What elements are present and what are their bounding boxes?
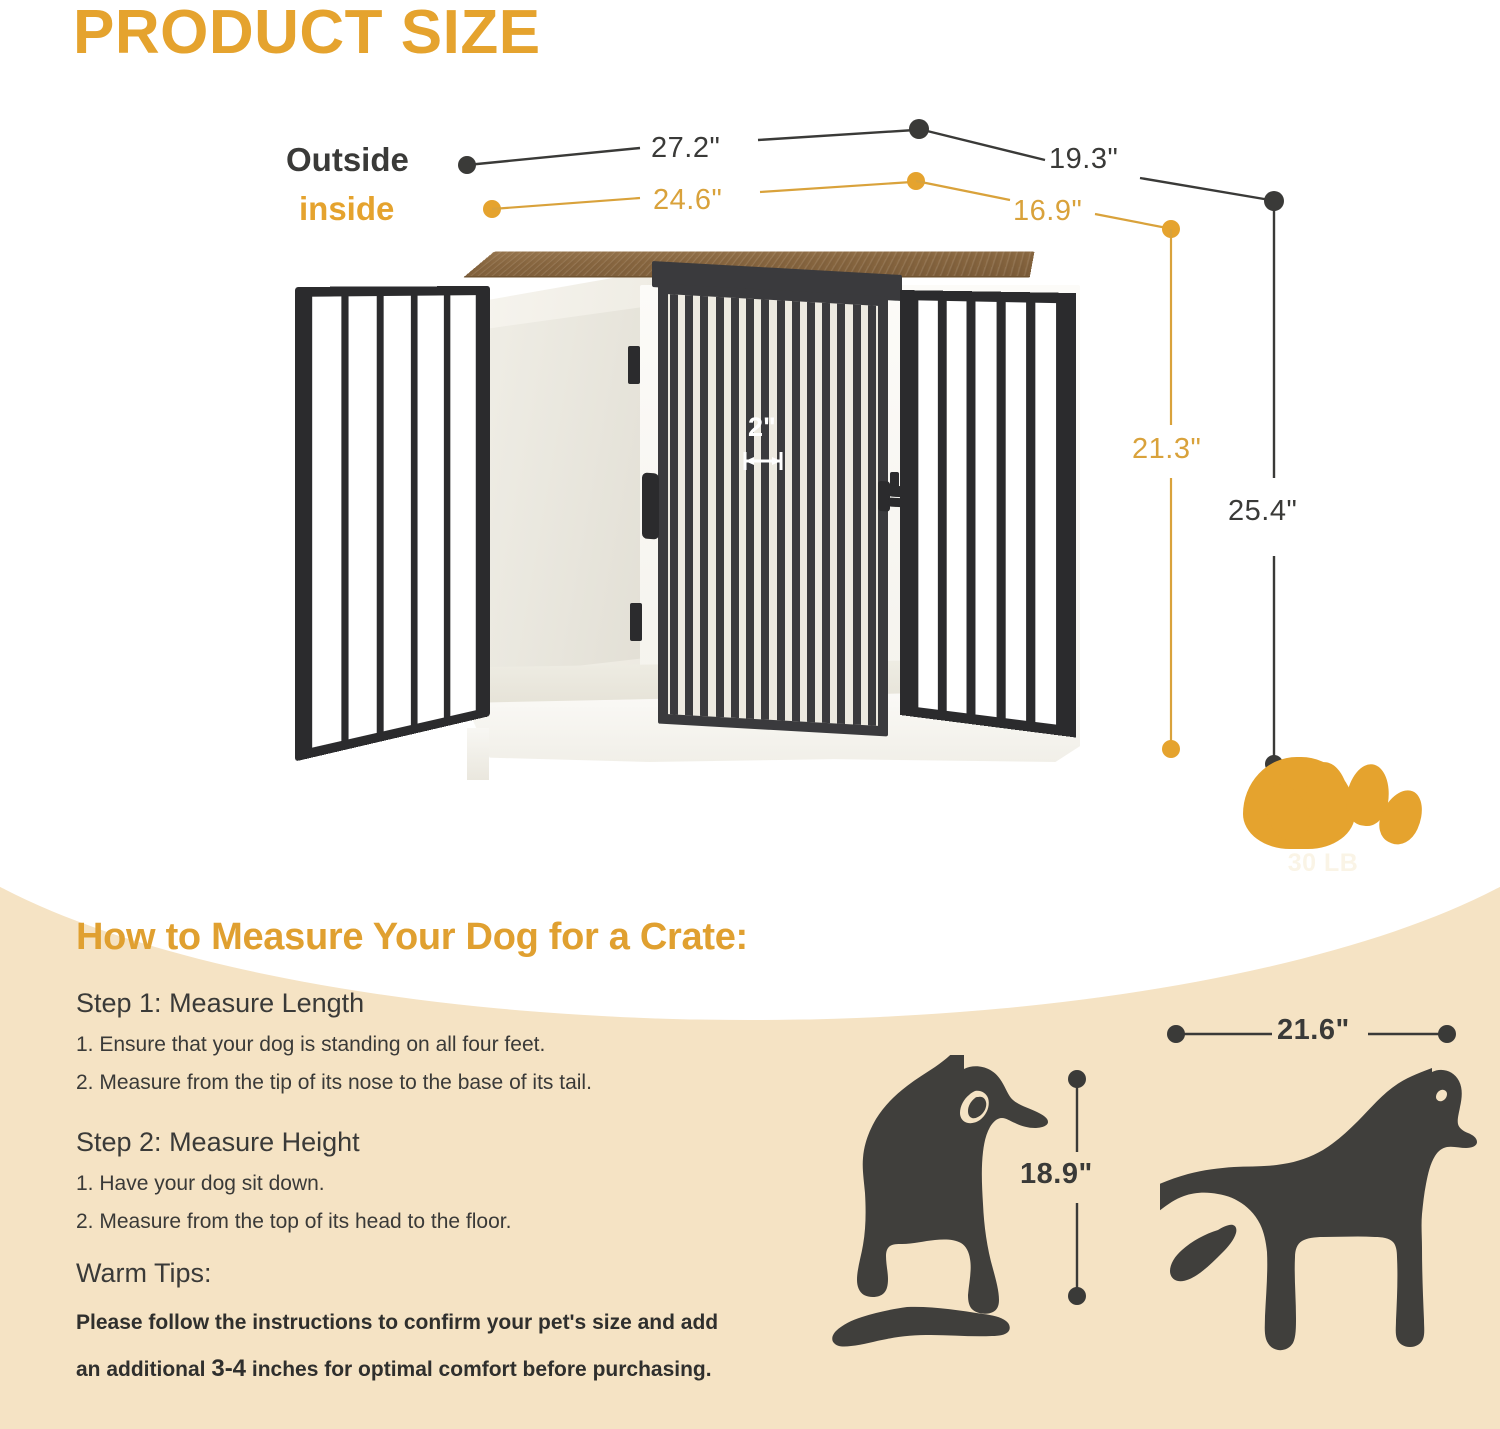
- latch-post: [878, 481, 890, 512]
- door-bar: [938, 301, 947, 711]
- step1-line1: 1. Ensure that your dog is standing on a…: [76, 1033, 545, 1057]
- howto-section-title: How to Measure Your Dog for a Crate:: [76, 916, 748, 959]
- bar-spacing-label: 2": [748, 412, 776, 443]
- dim-dot-inside-left: [483, 200, 501, 218]
- door-bar: [822, 303, 830, 723]
- crate-left-foot: [467, 728, 489, 780]
- door-bar: [476, 295, 482, 710]
- door-bar: [1026, 303, 1035, 722]
- legend-inside-label: inside: [299, 190, 394, 228]
- door-bar: [761, 299, 769, 719]
- dim-dot-inside-right-corner: [1162, 220, 1180, 238]
- tips-heading: Warm Tips:: [76, 1258, 212, 1289]
- door-bar: [996, 302, 1005, 718]
- door-bar: [967, 301, 976, 714]
- door-bar: [777, 300, 785, 720]
- dim-dot-right-corner: [1264, 191, 1284, 211]
- standing-dog-silhouette-icon: [1160, 1060, 1480, 1360]
- tips-line-2: an additional 3-4 inches for optimal com…: [76, 1355, 712, 1383]
- legend-outside-label: Outside: [286, 141, 409, 179]
- dim-inside-width: 24.6": [653, 184, 722, 217]
- door-bar: [807, 302, 815, 722]
- door-bar: [853, 304, 861, 724]
- door-bar: [731, 298, 739, 718]
- door-bar: [716, 297, 724, 717]
- door-bar: [670, 294, 678, 714]
- tips-line2-part-a: an additional: [76, 1358, 211, 1381]
- door-bar: [868, 305, 876, 725]
- weight-badge-value: 30 LB: [1243, 849, 1403, 878]
- dim-dot-outside-left: [458, 156, 476, 174]
- front-door-handle[interactable]: [642, 473, 659, 540]
- door-bar: [411, 296, 418, 725]
- door-bar: [377, 296, 384, 733]
- crate-right-door-open[interactable]: [900, 290, 1076, 738]
- door-bar: [792, 301, 800, 721]
- dim-dot-inside-bottom: [1162, 740, 1180, 758]
- weight-paw-badge: 30 LB: [1243, 757, 1403, 917]
- right-door-bars: [910, 300, 1066, 726]
- step2-heading: Step 2: Measure Height: [76, 1127, 360, 1158]
- bar-spacing-arrow-icon: [740, 448, 786, 472]
- door-bar: [444, 295, 450, 717]
- door-bar: [700, 296, 708, 716]
- door-bar: [746, 298, 754, 718]
- dim-outside-width: 27.2": [651, 132, 720, 165]
- sitting-dog-silhouette-icon: [812, 1055, 1072, 1355]
- front-door-bars: [668, 294, 878, 726]
- page-title: PRODUCT SIZE: [73, 2, 541, 64]
- dog-crate-illustration: [290, 228, 1120, 798]
- step1-heading: Step 1: Measure Length: [76, 988, 364, 1019]
- crate-interior-cavity: [490, 306, 650, 676]
- tips-line2-part-c: inches for optimal comfort before purcha…: [246, 1358, 712, 1381]
- door-bar: [305, 297, 312, 750]
- tips-line2-emphasis: 3-4: [211, 1355, 246, 1382]
- door-bar: [1056, 303, 1065, 726]
- hinge-upper-icon: [628, 346, 640, 384]
- door-bar: [685, 295, 693, 715]
- step2-line2: 2. Measure from the top of its head to t…: [76, 1210, 511, 1234]
- dim-inside-height: 21.3": [1132, 433, 1201, 466]
- dim-dot-inside-top-corner: [907, 172, 925, 190]
- dim-outside-height: 25.4": [1228, 495, 1297, 528]
- step1-line2: 2. Measure from the tip of its nose to t…: [76, 1071, 592, 1095]
- dim-dot-top-corner: [909, 119, 929, 139]
- tips-line-1: Please follow the instructions to confir…: [76, 1311, 718, 1335]
- crate-front-sliding-door[interactable]: [658, 284, 888, 737]
- door-bar: [837, 304, 845, 724]
- door-bar: [910, 300, 919, 707]
- step2-line1: 1. Have your dog sit down.: [76, 1172, 325, 1196]
- dim-inside-depth: 16.9": [1013, 195, 1082, 228]
- left-door-bars: [305, 295, 482, 749]
- door-bar: [341, 296, 348, 741]
- crate-left-door-open[interactable]: [295, 286, 490, 761]
- dim-outside-depth: 19.3": [1049, 143, 1118, 176]
- hinge-lower-icon: [630, 603, 642, 641]
- dim-dog-length: 21.6": [1277, 1014, 1350, 1047]
- infographic-page: PRODUCT SIZE Outside inside: [0, 0, 1500, 1429]
